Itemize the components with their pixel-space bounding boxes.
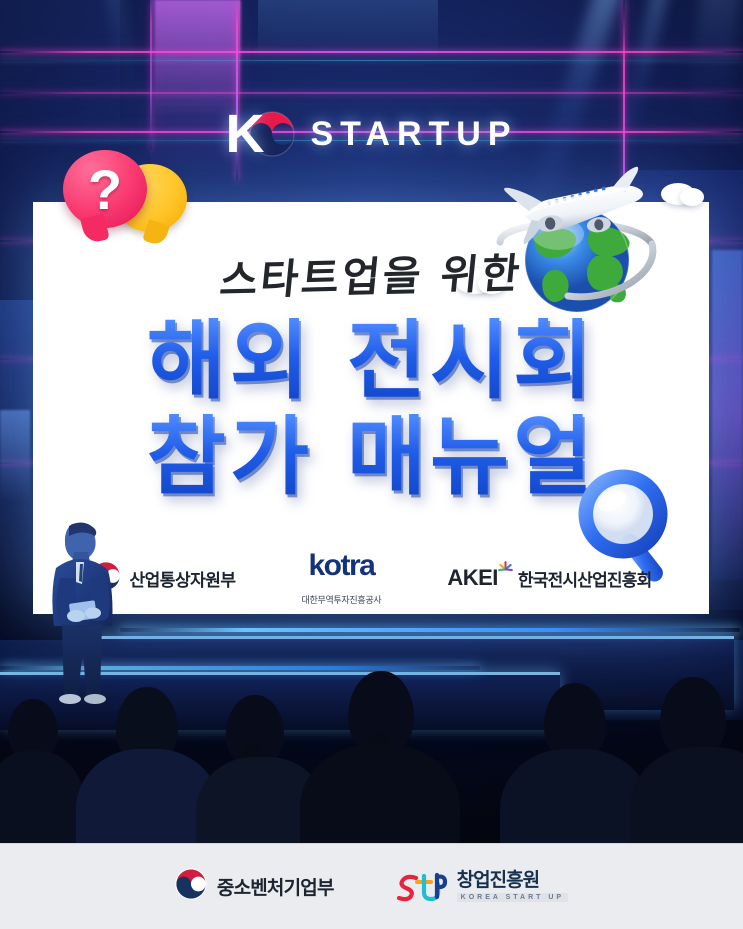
kotra-subtitle: 대한무역투자진흥공사	[302, 593, 382, 606]
footer-subtitle-kised: KOREA START UP	[457, 893, 568, 902]
s-t-p-mark	[396, 870, 448, 904]
audience-body	[300, 745, 460, 843]
footer-name-mss: 중소벤처기업부	[217, 873, 334, 900]
title-line-1: 해외 전시회	[0, 318, 743, 406]
partner-logo-akei: AKEI 한국전시산업진흥회	[447, 565, 651, 591]
audience-body	[0, 751, 86, 843]
footer-name-kised: 창업진흥원	[457, 871, 539, 890]
neon-grid-line	[0, 92, 743, 94]
partner-name-akei: 한국전시산업진흥회	[518, 566, 652, 591]
question-mark-glyph: ?	[63, 150, 147, 228]
neon-grid-line	[0, 60, 743, 61]
auditorium-backdrop: K STARTUP	[0, 0, 743, 843]
audience-member	[630, 677, 743, 843]
k-letter: K	[225, 107, 262, 161]
presenter-figure	[36, 516, 128, 708]
audience-member	[0, 693, 86, 843]
partner-logo-kotra: kotra 대한무역투자진흥공사	[302, 551, 382, 606]
startup-wordmark: STARTUP	[310, 115, 517, 154]
audience-body	[500, 749, 650, 843]
starburst-icon	[496, 559, 515, 583]
akei-wordmark: AKEI	[447, 565, 498, 591]
partner-logo-row: 산업통상자원부 kotra 대한무역투자진흥공사 AKEI	[33, 552, 709, 604]
poster-canvas: K STARTUP	[0, 0, 743, 929]
cloud-icon	[680, 188, 704, 206]
footer-logo-bar: 중소벤처기업부 창업진흥원 KOREA START UP	[0, 843, 743, 929]
audience-member	[300, 671, 460, 843]
kised-text-block: 창업진흥원 KOREA START UP	[457, 871, 568, 902]
glow-accent	[155, 0, 241, 118]
neon-grid-line	[0, 51, 743, 53]
footer-logo-mss: 중소벤처기업부	[175, 868, 334, 905]
stage-light-strip	[120, 628, 740, 632]
speech-bubbles-group: ?	[57, 142, 192, 242]
audience-member	[500, 681, 650, 843]
footer-logo-kised: 창업진흥원 KOREA START UP	[396, 870, 568, 904]
audience-body	[630, 747, 743, 843]
audience-silhouettes	[0, 690, 743, 843]
korea-government-taeguk-icon	[175, 868, 207, 905]
partner-name-motie: 산업통상자원부	[130, 566, 236, 591]
kotra-wordmark: kotra	[308, 551, 374, 581]
